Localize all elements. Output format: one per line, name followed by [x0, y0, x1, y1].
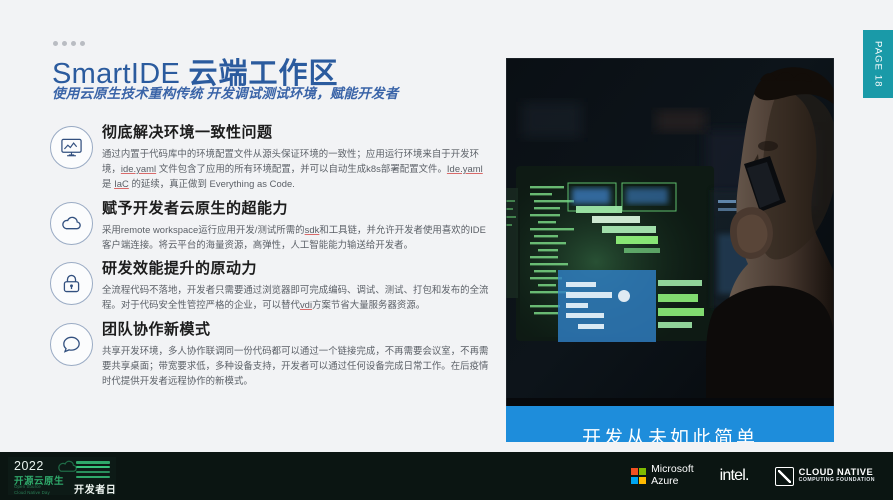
page-subtitle: 使用云原生技术重构传统 开发调试测试环境，赋能开发者 — [52, 82, 398, 102]
logo-bars-icon — [76, 461, 110, 481]
event-logo-en: Open SourceCloud Native Day — [14, 484, 50, 496]
microsoft-azure-logo: MicrosoftAzure — [631, 464, 694, 488]
developer-at-monitors-photo — [506, 58, 834, 442]
intel-logo: intel. — [720, 467, 749, 485]
hero-photo: 开发从未如此简单 — [506, 58, 834, 442]
cncf-text: CLOUD NATIVE COMPUTING FOUNDATION — [799, 467, 875, 485]
photo-caption-text: 开发从未如此简单 — [582, 423, 758, 443]
chat-bubble-icon — [50, 323, 93, 366]
dot-1 — [53, 41, 58, 46]
event-logo: 2022 开源云原生 Open SourceCloud Native Day 开… — [8, 457, 116, 495]
feature-body: 全流程代码不落地，开发者只需要通过浏览器即可完成编码、调试、测试、打包和发布的全… — [102, 282, 490, 312]
feature-title: 彻底解决环境一致性问题 — [102, 124, 490, 142]
microsoft-squares-icon — [631, 468, 647, 484]
feature-title: 研发效能提升的原动力 — [102, 260, 490, 278]
event-logo-year: 2022 — [14, 459, 44, 473]
feature-item: 团队协作新模式 共享开发环境，多人协作联调同一份代码都可以通过一个链接完成，不再… — [50, 321, 490, 389]
feature-body: 共享开发环境，多人协作联调同一份代码都可以通过一个链接完成，不再需要会议室，不再… — [102, 343, 490, 389]
feature-body: 通过内置于代码库中的环境配置文件从源头保证环境的一致性；应用运行环境来自于开发环… — [102, 146, 490, 192]
monitor-chart-icon — [50, 126, 93, 169]
page-number-tab: PAGE 18 — [863, 30, 893, 98]
cncf-logo: CLOUD NATIVE COMPUTING FOUNDATION — [775, 467, 875, 486]
page-number-label: PAGE 18 — [873, 41, 884, 88]
sponsor-logos: MicrosoftAzure intel. CLOUD NATIVE COMPU… — [631, 464, 875, 488]
slide-root: PAGE 18 SmartIDE 云端工作区 使用云原生技术重构传统 开发调试测… — [0, 0, 893, 500]
cncf-mark-icon — [775, 467, 794, 486]
photo-caption: 开发从未如此简单 — [506, 406, 834, 442]
event-logo-day: 开发者日 — [74, 481, 116, 496]
dot-2 — [62, 41, 67, 46]
intel-wordmark: intel. — [720, 467, 749, 485]
feature-item: 彻底解决环境一致性问题 通过内置于代码库中的环境配置文件从源头保证环境的一致性；… — [50, 124, 490, 192]
feature-title: 团队协作新模式 — [102, 321, 490, 339]
feature-title: 赋予开发者云原生的超能力 — [102, 200, 490, 218]
lock-icon — [50, 262, 93, 305]
feature-item: 研发效能提升的原动力 全流程代码不落地，开发者只需要通过浏览器即可完成编码、调试… — [50, 260, 490, 312]
feature-body: 采用remote workspace运行应用开发/测试所需的sdk和工具链，并允… — [102, 222, 490, 252]
feature-item: 赋予开发者云原生的超能力 采用remote workspace运行应用开发/测试… — [50, 200, 490, 252]
decorative-dots — [53, 41, 85, 46]
cloud-mark-icon — [56, 459, 78, 473]
footer-bar: 2022 开源云原生 Open SourceCloud Native Day 开… — [0, 452, 893, 500]
cloud-icon — [50, 202, 93, 245]
dot-3 — [71, 41, 76, 46]
feature-list: 彻底解决环境一致性问题 通过内置于代码库中的环境配置文件从源头保证环境的一致性；… — [50, 124, 490, 396]
microsoft-azure-text: MicrosoftAzure — [651, 464, 694, 488]
dot-4 — [80, 41, 85, 46]
